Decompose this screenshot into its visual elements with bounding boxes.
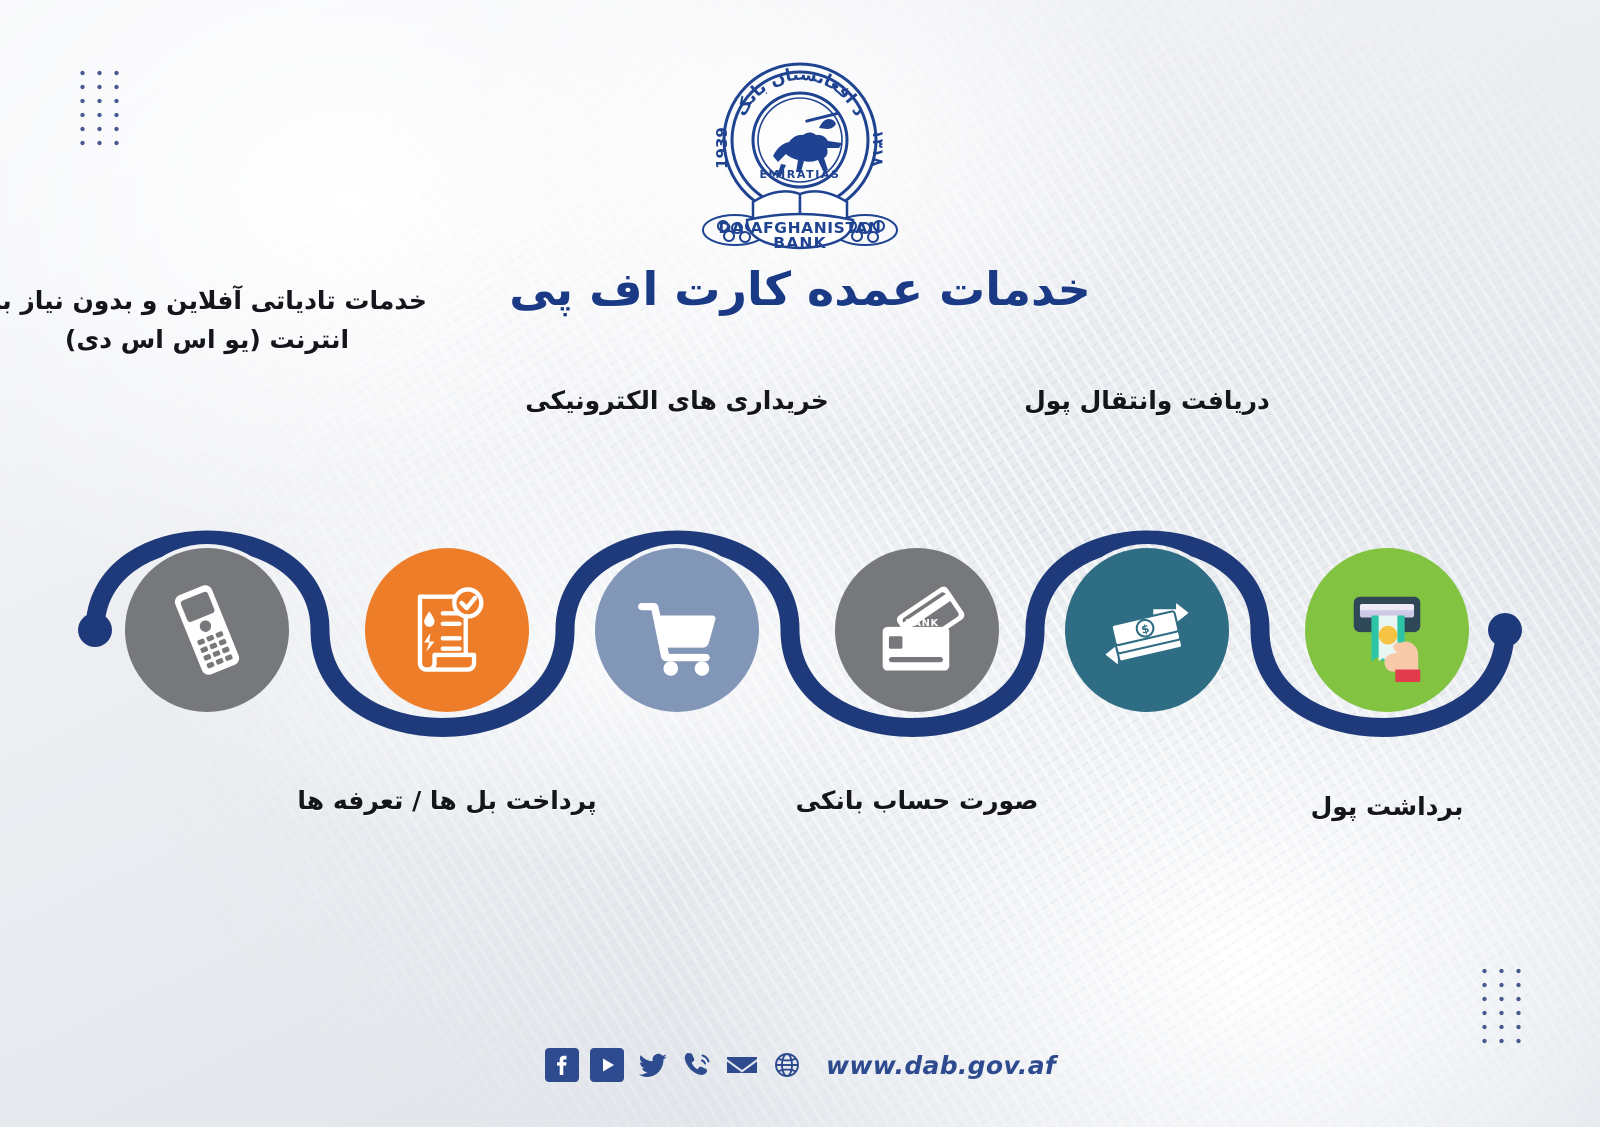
email-icon[interactable]: [724, 1047, 760, 1083]
svg-text:1939: 1939: [713, 127, 731, 169]
service-label-cash-withdrawal: برداشت پول: [1167, 788, 1600, 826]
services-flow-stage: خدمات تادیاتی آفلاین و بدون نیاز به انتر…: [0, 360, 1600, 900]
atm-withdrawal-icon: [1335, 578, 1439, 682]
service-label-bill-payments: پرداخت بل ها / تعرفه ها: [227, 782, 667, 820]
footer-social-bar: www.dab.gov.af: [0, 1047, 1600, 1083]
globe-icon[interactable]: [769, 1047, 805, 1083]
decorative-dot-grid-top-left: [72, 64, 120, 148]
wave-end-dot: [1488, 613, 1522, 647]
logo-line2: BANK: [773, 234, 827, 252]
invoice-check-icon: [395, 578, 499, 682]
service-node-money-transfer[interactable]: $: [1065, 548, 1229, 712]
bank-cards-icon: BANK: [865, 578, 969, 682]
infographic-poster: د افغانستان بانک 1939 ۱۳۱۸ EMIRATIAS: [0, 0, 1600, 1127]
service-label-money-transfer: دریافت وانتقال پول: [927, 382, 1367, 420]
feature-phone-icon: [155, 578, 259, 682]
facebook-icon[interactable]: [544, 1047, 580, 1083]
service-node-bank-statement[interactable]: BANK: [835, 548, 999, 712]
money-transfer-icon: $: [1095, 578, 1199, 682]
service-label-bank-statement: صورت حساب بانکی: [697, 782, 1137, 820]
youtube-icon[interactable]: [589, 1047, 625, 1083]
twitter-icon[interactable]: [634, 1047, 670, 1083]
shopping-cart-icon: [625, 578, 729, 682]
website-url[interactable]: www.dab.gov.af: [826, 1051, 1056, 1080]
service-node-electronic-purchases[interactable]: [595, 548, 759, 712]
decorative-dot-grid-bottom-right: [1474, 962, 1522, 1046]
service-node-cash-withdrawal[interactable]: [1305, 548, 1469, 712]
da-afghanistan-bank-logo: د افغانستان بانک 1939 ۱۳۱۸ EMIRATIAS: [695, 52, 905, 257]
svg-text:۱۳۱۸: ۱۳۱۸: [869, 130, 887, 167]
service-node-bill-payments[interactable]: [365, 548, 529, 712]
bank-card-text: BANK: [905, 618, 939, 629]
service-node-ussd-offline-payments[interactable]: [125, 548, 289, 712]
phone-icon[interactable]: [679, 1047, 715, 1083]
svg-text:EMIRATIAS: EMIRATIAS: [759, 168, 840, 181]
service-label-ussd-offline-payments: خدمات تادیاتی آفلاین و بدون نیاز به انتر…: [0, 282, 427, 360]
wave-start-dot: [78, 613, 112, 647]
service-label-electronic-purchases: خریداری های الکترونیکی: [457, 382, 897, 420]
